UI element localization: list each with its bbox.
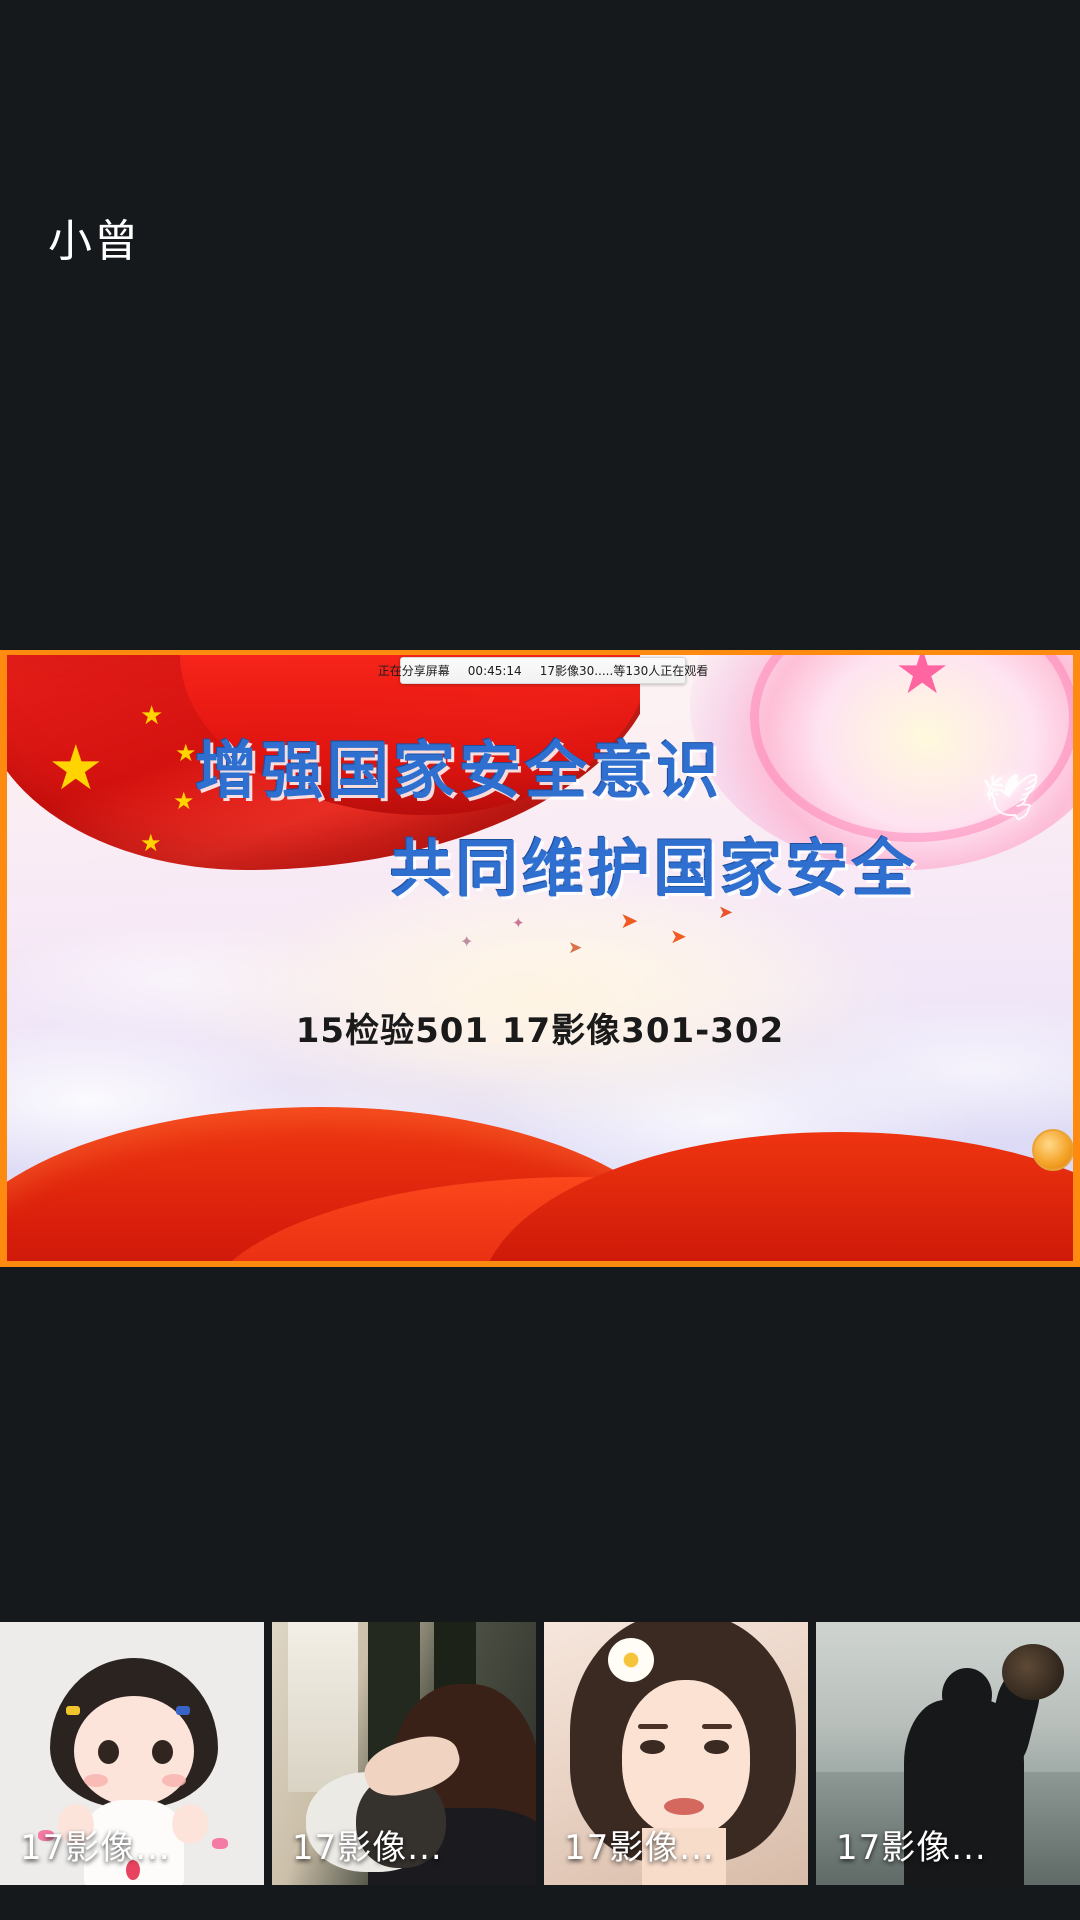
participant-thumbnail[interactable]: 17影像... <box>816 1622 1080 1885</box>
red-ribbon-decoration <box>0 1067 1080 1267</box>
seal-icon <box>1032 1129 1074 1171</box>
thumbnail-label: 17影像... <box>20 1820 171 1869</box>
thumbnail-label: 17影像... <box>564 1820 715 1869</box>
thumbnail-label: 17影像... <box>292 1820 443 1869</box>
flag-star-small-1: ★ <box>140 702 163 728</box>
shared-screen-content[interactable]: ★ ★ ★ ★ ★ ★ 🕊 ✦✦➤ ➤➤➤ 增强国家安全意识 共同维护国家安全 … <box>0 650 1080 1267</box>
pink-star-icon: ★ <box>894 650 950 704</box>
poster-subtitle: 15检验501 17影像301-302 <box>0 1003 1080 1052</box>
screen-share-banner[interactable]: 正在分享屏幕 00:45:14 17影像30.....等130人正在观看 <box>400 657 686 684</box>
poster-headline-line2: 共同维护国家安全 <box>390 818 918 908</box>
poster-headline-block: 增强国家安全意识 共同维护国家安全 15检验501 17影像301-302 <box>0 728 1080 938</box>
share-elapsed-time: 00:45:14 <box>468 665 522 677</box>
participant-thumbnail[interactable]: 17影像... <box>0 1622 264 1885</box>
participant-thumbnail[interactable]: 17影像... <box>272 1622 536 1885</box>
share-viewers-label: 17影像30.....等130人正在观看 <box>540 665 709 677</box>
thumbnail-label: 17影像... <box>836 1820 987 1869</box>
share-status-label: 正在分享屏幕 <box>378 665 450 677</box>
participant-name: 小曾 <box>48 220 140 264</box>
participant-thumbnail-strip[interactable]: 17影像... 17影像... 17影像... 17影像... <box>0 1622 1080 1885</box>
poster-headline-line1: 增强国家安全意识 <box>195 720 723 810</box>
participant-thumbnail[interactable]: 17影像... <box>544 1622 808 1885</box>
meeting-screen: 小曾 ★ ★ ★ ★ ★ ★ 🕊 ✦✦➤ ➤➤➤ 增强国家安全意识 共同维护国家… <box>0 0 1080 1920</box>
